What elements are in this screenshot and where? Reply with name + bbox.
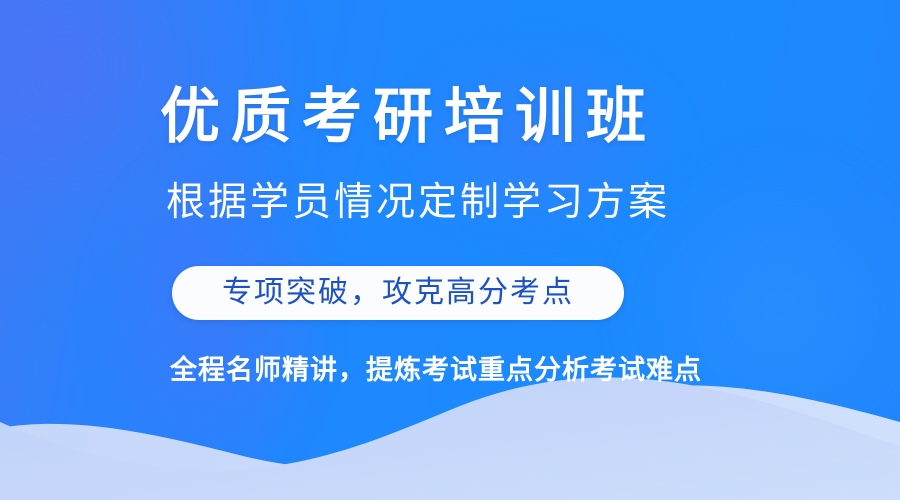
banner-tagline: 全程名师精讲，提炼考试重点分析考试难点 [170, 353, 702, 387]
banner-title: 优质考研培训班 [160, 82, 657, 152]
highlight-pill-label: 专项突破，攻克高分考点 [222, 276, 574, 310]
promo-banner: 优质考研培训班 根据学员情况定制学习方案 专项突破，攻克高分考点 全程名师精讲，… [0, 0, 900, 500]
banner-subtitle: 根据学员情况定制学习方案 [166, 180, 670, 226]
banner-content: 优质考研培训班 根据学员情况定制学习方案 专项突破，攻克高分考点 全程名师精讲，… [0, 0, 900, 500]
highlight-pill[interactable]: 专项突破，攻克高分考点 [172, 266, 624, 320]
